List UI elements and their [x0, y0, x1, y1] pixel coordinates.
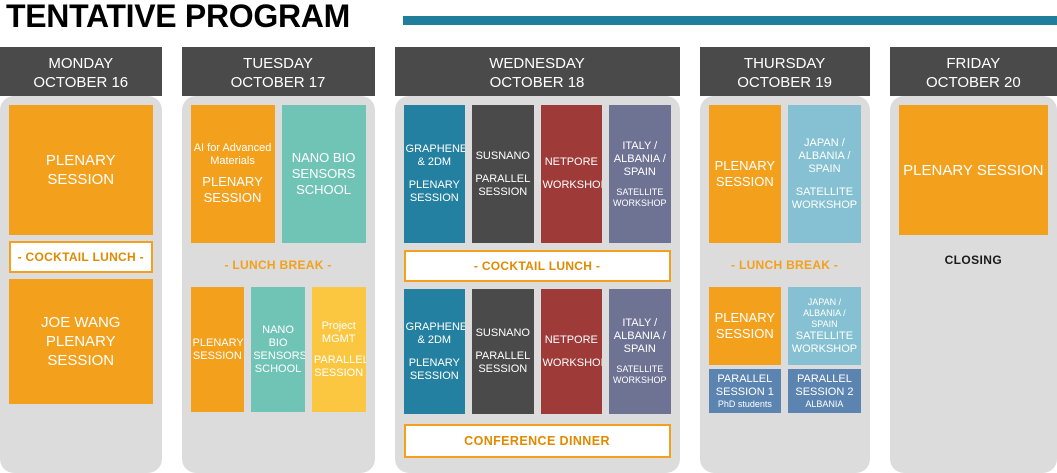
day-column-monday: MONDAY OCTOBER 16 PLENARY SESSION - COCK… — [0, 47, 162, 473]
session-block[interactable]: JAPAN / ALBANIA / SPAIN SATELLITE WORKSH… — [788, 105, 861, 243]
closing-banner: CLOSING — [899, 241, 1048, 279]
session-title: PLENARY SESSION — [711, 310, 780, 342]
break-banner: - COCKTAIL LUNCH - — [9, 241, 153, 273]
session-block[interactable]: PLENARY SESSION — [9, 105, 153, 235]
page-title: TENTATIVE PROGRAM — [6, 0, 350, 35]
session-speaker: JOE WANG — [11, 313, 151, 332]
session-note: ALBANIA — [790, 399, 859, 410]
session-topic: GRAPHENE & 2DM — [406, 143, 464, 169]
day-name: FRIDAY — [892, 54, 1055, 73]
session-title: PLENARY SESSION — [406, 179, 464, 205]
day-date: OCTOBER 20 — [892, 73, 1055, 92]
session-title: PLENARY SESSION — [11, 151, 151, 189]
session-block[interactable]: NANO BIO SENSORS SCHOOL — [282, 105, 366, 243]
session-block[interactable]: SUSNANO PARALLEL SESSION — [472, 105, 534, 243]
day-body-monday: PLENARY SESSION - COCKTAIL LUNCH - JOE W… — [0, 96, 162, 473]
session-block[interactable]: PLENARY SESSION — [709, 105, 782, 243]
program-page: TENTATIVE PROGRAM MONDAY OCTOBER 16 PLEN… — [0, 0, 1057, 473]
session-title: WORKSHOP — [543, 179, 601, 192]
session-row-afternoon: PLENARY SESSION NANO BIO SENSORS SCHOOL … — [191, 287, 366, 412]
session-block[interactable]: PARALLEL SESSION 1 PhD students — [709, 369, 782, 413]
session-row-morning: GRAPHENE & 2DM PLENARY SESSION SUSNANO P… — [404, 105, 671, 243]
session-block[interactable]: JOE WANG PLENARY SESSION — [9, 279, 153, 404]
day-column-friday: FRIDAY OCTOBER 20 PLENARY SESSION CLOSIN… — [890, 47, 1057, 473]
session-title: SATELLITE WORKSHOP — [790, 330, 859, 356]
break-banner: - LUNCH BREAK - — [709, 249, 861, 281]
session-title: PARALLEL SESSION 1 — [711, 373, 780, 399]
week-grid: MONDAY OCTOBER 16 PLENARY SESSION - COCK… — [0, 47, 1057, 473]
break-banner: - LUNCH BREAK - — [191, 249, 366, 281]
session-row-afternoon: GRAPHENE & 2DM PLENARY SESSION SUSNANO P… — [404, 289, 671, 414]
break-banner: - COCKTAIL LUNCH - — [404, 250, 671, 282]
session-block[interactable]: AI for Advanced Materials PLENARY SESSIO… — [191, 105, 275, 243]
session-title: PLENARY SESSION — [901, 161, 1046, 180]
session-row-morning: PLENARY SESSION JAPAN / ALBANIA / SPAIN … — [709, 105, 861, 243]
session-block[interactable]: PLENARY SESSION — [709, 287, 782, 365]
day-date: OCTOBER 17 — [184, 73, 373, 92]
session-block[interactable]: NETPORE WORKSHOP — [541, 105, 603, 243]
day-body-thursday: PLENARY SESSION JAPAN / ALBANIA / SPAIN … — [700, 96, 870, 473]
day-body-tuesday: AI for Advanced Materials PLENARY SESSIO… — [182, 96, 375, 473]
session-title: SATELLITE WORKSHOP — [790, 186, 859, 212]
session-topic: ITALY / ALBANIA / SPAIN — [611, 140, 669, 179]
session-title: PARALLEL SESSION — [314, 354, 364, 380]
day-body-friday: PLENARY SESSION CLOSING — [890, 96, 1057, 473]
session-block[interactable]: GRAPHENE & 2DM PLENARY SESSION — [404, 289, 466, 414]
session-block[interactable]: GRAPHENE & 2DM PLENARY SESSION — [404, 105, 466, 243]
session-topic: SUSNANO — [474, 327, 532, 340]
session-topic: NETPORE — [543, 156, 601, 169]
session-topic: ITALY / ALBANIA / SPAIN — [611, 317, 669, 356]
session-block[interactable]: PARALLEL SESSION 2 ALBANIA — [788, 369, 861, 413]
session-title: PARALLEL SESSION 2 — [790, 373, 859, 399]
day-name: THURSDAY — [702, 54, 868, 73]
title-accent-rule — [403, 16, 1057, 25]
day-header-friday: FRIDAY OCTOBER 20 — [890, 47, 1057, 96]
session-block[interactable]: NETPORE WORKSHOP — [541, 289, 603, 414]
session-topic: JAPAN / ALBANIA / SPAIN — [790, 297, 859, 330]
session-block[interactable]: PLENARY SESSION — [899, 105, 1048, 235]
session-title: PLENARY SESSION — [711, 158, 780, 190]
day-date: OCTOBER 16 — [2, 73, 160, 92]
day-date: OCTOBER 19 — [702, 73, 868, 92]
day-column-thursday: THURSDAY OCTOBER 19 PLENARY SESSION JAPA… — [700, 47, 870, 473]
day-name: WEDNESDAY — [397, 54, 678, 73]
session-block[interactable]: Project MGMT PARALLEL SESSION — [312, 287, 366, 412]
session-row-parallel: PARALLEL SESSION 1 PhD students PARALLEL… — [709, 369, 861, 413]
session-title: SATELLITE WORKSHOP — [611, 187, 669, 209]
session-block[interactable]: SUSNANO PARALLEL SESSION — [472, 289, 534, 414]
session-title: SATELLITE WORKSHOP — [611, 364, 669, 386]
session-note: PhD students — [711, 399, 780, 410]
session-title: NANO BIO SENSORS SCHOOL — [253, 324, 303, 376]
day-header-monday: MONDAY OCTOBER 16 — [0, 47, 162, 96]
session-block[interactable]: ITALY / ALBANIA / SPAIN SATELLITE WORKSH… — [609, 289, 671, 414]
session-title: PARALLEL SESSION — [474, 173, 532, 199]
day-date: OCTOBER 18 — [397, 73, 678, 92]
session-topic: JAPAN / ALBANIA / SPAIN — [790, 137, 859, 176]
session-title: PLENARY SESSION — [193, 174, 273, 206]
session-block[interactable]: NANO BIO SENSORS SCHOOL — [251, 287, 305, 412]
day-header-wednesday: WEDNESDAY OCTOBER 18 — [395, 47, 680, 96]
session-row-morning: AI for Advanced Materials PLENARY SESSIO… — [191, 105, 366, 243]
session-topic: AI for Advanced Materials — [193, 142, 273, 168]
day-header-tuesday: TUESDAY OCTOBER 17 — [182, 47, 375, 96]
session-title: PLENARY SESSION — [11, 332, 151, 370]
day-header-thursday: THURSDAY OCTOBER 19 — [700, 47, 870, 96]
session-topic: Project MGMT — [314, 320, 364, 346]
session-block[interactable]: ITALY / ALBANIA / SPAIN SATELLITE WORKSH… — [609, 105, 671, 243]
session-block[interactable]: JAPAN / ALBANIA / SPAIN SATELLITE WORKSH… — [788, 287, 861, 365]
session-title: PARALLEL SESSION — [474, 350, 532, 376]
session-row-afternoon: PLENARY SESSION JAPAN / ALBANIA / SPAIN … — [709, 287, 861, 365]
session-block[interactable]: PLENARY SESSION — [191, 287, 245, 412]
day-column-tuesday: TUESDAY OCTOBER 17 AI for Advanced Mater… — [182, 47, 375, 473]
day-name: MONDAY — [2, 54, 160, 73]
session-topic: GRAPHENE & 2DM — [406, 321, 464, 347]
session-topic: NETPORE — [543, 334, 601, 347]
session-topic: SUSNANO — [474, 150, 532, 163]
day-body-wednesday: GRAPHENE & 2DM PLENARY SESSION SUSNANO P… — [395, 96, 680, 473]
session-title: NANO BIO SENSORS SCHOOL — [284, 150, 364, 198]
session-title: PLENARY SESSION — [406, 357, 464, 383]
dinner-banner: CONFERENCE DINNER — [404, 424, 671, 458]
session-title: WORKSHOP — [543, 357, 601, 370]
day-name: TUESDAY — [184, 54, 373, 73]
page-header: TENTATIVE PROGRAM — [0, 0, 1057, 42]
session-title: PLENARY SESSION — [193, 337, 243, 363]
day-column-wednesday: WEDNESDAY OCTOBER 18 GRAPHENE & 2DM PLEN… — [395, 47, 680, 473]
